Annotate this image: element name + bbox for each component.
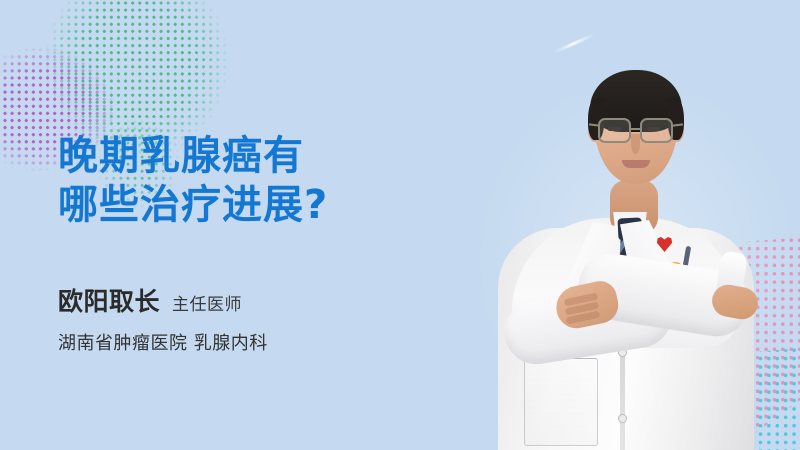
coat-pocket: [524, 358, 598, 446]
headline-line-2: 哪些治疗进展?: [58, 181, 478, 230]
doctor-affiliation: 湖南省肿瘤医院 乳腺内科: [58, 329, 488, 355]
video-thumbnail-card: 晚期乳腺癌有 哪些治疗进展? 欧阳取长 主任医师 湖南省肿瘤医院 乳腺内科: [0, 0, 800, 450]
doctor-name: 欧阳取长: [58, 282, 160, 318]
eyeglasses-lens-left: [598, 118, 631, 143]
doctor-name-row: 欧阳取长 主任医师: [58, 282, 488, 318]
headline-line-1: 晚期乳腺癌有: [58, 132, 478, 181]
headline-block: 晚期乳腺癌有 哪些治疗进展?: [58, 132, 478, 230]
eyeglasses-bridge: [631, 128, 640, 130]
light-streak: [553, 33, 594, 54]
mouth: [622, 160, 650, 168]
eyeglasses-lens-right: [640, 118, 673, 143]
nose: [631, 134, 640, 154]
doctor-portrait-photo: [460, 0, 800, 450]
coat-button: [618, 414, 627, 423]
doctor-rank: 主任医师: [172, 290, 242, 315]
byline-block: 欧阳取长 主任医师 湖南省肿瘤医院 乳腺内科: [58, 282, 488, 355]
